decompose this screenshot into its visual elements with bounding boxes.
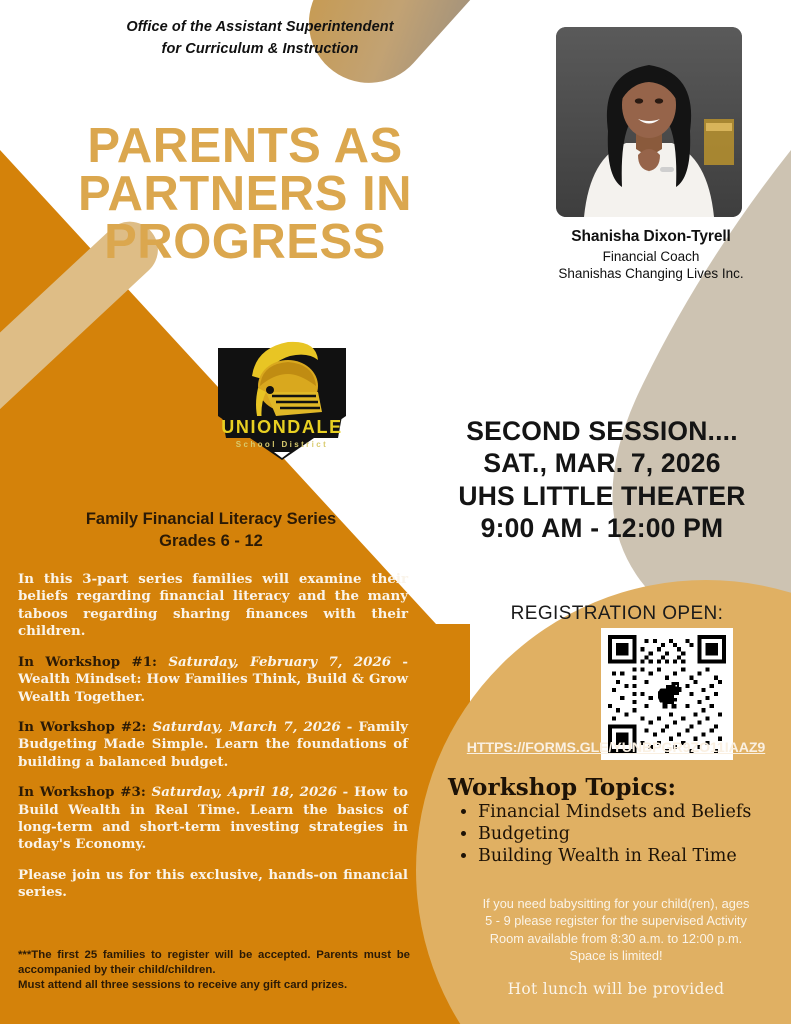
- workshop-topics: Workshop Topics: Financial Mindsets and …: [448, 774, 788, 868]
- series-heading: Family Financial Literacy Series Grades …: [16, 508, 406, 553]
- series-intro: In this 3-part series families will exam…: [18, 571, 408, 641]
- office-line-2: for Curriculum & Instruction: [60, 38, 460, 60]
- office-line-1: Office of the Assistant Superintendent: [60, 16, 460, 38]
- hot-lunch-note: Hot lunch will be provided: [446, 980, 786, 998]
- workshop-item: In Workshop #3: Saturday, April 18, 2026…: [18, 784, 408, 854]
- dinosaur-icon: [653, 680, 682, 713]
- topics-heading: Workshop Topics:: [448, 774, 788, 801]
- speaker-photo: [556, 27, 742, 217]
- list-item: Building Wealth in Real Time: [478, 846, 788, 868]
- series-heading-line-2: Grades 6 - 12: [16, 530, 406, 552]
- session-line-2: SAT., MAR. 7, 2026: [432, 447, 772, 479]
- speaker-name: Shanisha Dixon-Tyrell: [556, 228, 746, 246]
- title-line-2: PARTNERS IN: [60, 170, 430, 218]
- session-line-4: 9:00 AM - 12:00 PM: [432, 512, 772, 544]
- speaker-role: Financial Coach: [556, 249, 746, 264]
- babysitting-line-4: Space is limited!: [446, 947, 786, 964]
- logo-wordmark: UNIONDALE: [221, 417, 342, 437]
- registration-url-link[interactable]: HTTPS://FORMS.GLE/YUNBPGR9ZO11IAAZ9: [440, 740, 791, 756]
- workshop-label: In Workshop #2:: [18, 719, 146, 735]
- session-details: SECOND SESSION.... SAT., MAR. 7, 2026 UH…: [432, 415, 772, 544]
- workshop-date: Saturday, March 7, 2026: [152, 719, 340, 735]
- uniondale-school-district-logo: UNIONDALE School District: [196, 334, 368, 466]
- workshop-date: Saturday, February 7, 2026: [168, 654, 391, 670]
- series-closing: Please join us for this exclusive, hands…: [18, 867, 408, 902]
- qr-code-icon[interactable]: [608, 635, 726, 753]
- series-heading-line-1: Family Financial Literacy Series: [16, 508, 406, 530]
- speaker-card: Shanisha Dixon-Tyrell Financial Coach Sh…: [556, 27, 746, 281]
- page-title: PARENTS AS PARTNERS IN PROGRESS: [60, 122, 430, 266]
- workshop-date: Saturday, April 18, 2026: [152, 784, 337, 800]
- title-line-3: PROGRESS: [60, 218, 430, 266]
- session-line-3: UHS LITTLE THEATER: [432, 480, 772, 512]
- topics-list: Financial Mindsets and Beliefs Budgeting…: [448, 802, 788, 868]
- speaker-organization: Shanishas Changing Lives Inc.: [556, 266, 746, 281]
- babysitting-line-3: Room available from 8:30 a.m. to 12:00 p…: [446, 930, 786, 947]
- list-item: Financial Mindsets and Beliefs: [478, 802, 788, 824]
- series-body: In this 3-part series families will exam…: [18, 571, 408, 915]
- workshop-item: In Workshop #1: Saturday, February 7, 20…: [18, 654, 408, 706]
- flyer-page: Office of the Assistant Superintendent f…: [0, 0, 791, 1024]
- office-header: Office of the Assistant Superintendent f…: [60, 16, 460, 61]
- title-line-1: PARENTS AS: [60, 122, 430, 170]
- disclaimer-line-2: Must attend all three sessions to receiv…: [18, 978, 410, 993]
- babysitting-note: If you need babysitting for your child(r…: [446, 895, 786, 964]
- workshop-label: In Workshop #1:: [18, 654, 157, 670]
- disclaimer-line-1: ***The first 25 families to register wil…: [18, 948, 410, 978]
- list-item: Budgeting: [478, 824, 788, 846]
- babysitting-line-1: If you need babysitting for your child(r…: [446, 895, 786, 912]
- workshop-label: In Workshop #3:: [18, 784, 146, 800]
- disclaimer: ***The first 25 families to register wil…: [18, 948, 410, 993]
- session-line-1: SECOND SESSION....: [432, 415, 772, 447]
- babysitting-line-2: 5 - 9 please register for the supervised…: [446, 912, 786, 929]
- workshop-item: In Workshop #2: Saturday, March 7, 2026 …: [18, 719, 408, 771]
- registration-heading: REGISTRATION OPEN:: [455, 603, 779, 625]
- logo-subwordmark: School District: [236, 440, 328, 449]
